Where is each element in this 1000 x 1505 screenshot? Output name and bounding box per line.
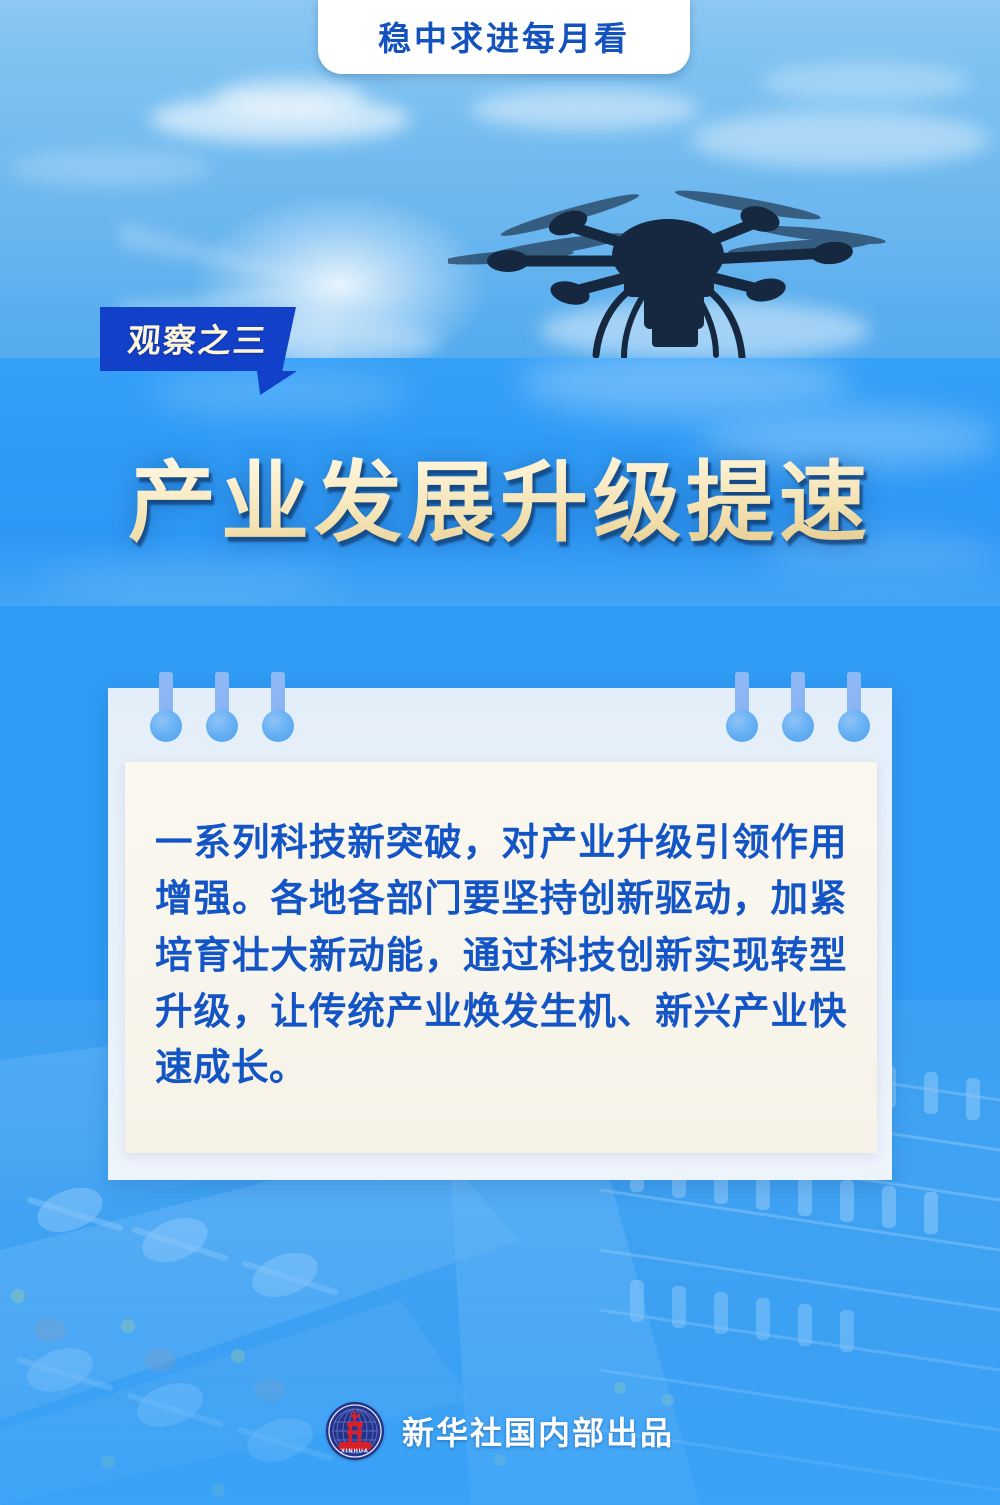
cloud-shape <box>10 150 210 186</box>
note-inner-panel: 一系列科技新突破，对产业升级引领作用增强。各地各部门要坚持创新驱动，加紧培育壮大… <box>125 762 877 1153</box>
pin-head-icon <box>262 710 294 742</box>
pin-head-icon <box>206 710 238 742</box>
observation-badge: 观察之三 <box>100 307 296 371</box>
cloud-shape <box>470 88 700 130</box>
pin-head-icon <box>782 710 814 742</box>
cloud-shape <box>690 110 990 168</box>
series-tab[interactable]: 稳中求进每月看 <box>318 0 690 74</box>
note-body-text: 一系列科技新突破，对产业升级引领作用增强。各地各部门要坚持创新驱动，加紧培育壮大… <box>155 814 847 1095</box>
pin-head-icon <box>838 710 870 742</box>
cloud-shape <box>760 62 970 102</box>
xinhua-logo-icon: XINHUA <box>326 1402 384 1460</box>
cloud-shape <box>215 78 365 118</box>
footer: XINHUA 新华社国内部出品 <box>0 1400 1000 1462</box>
page-title: 产业发展升级提速 <box>0 432 1000 559</box>
pin-head-icon <box>150 710 182 742</box>
drone-icon <box>448 175 888 360</box>
pin-head-icon <box>726 710 758 742</box>
observation-badge-label: 观察之三 <box>126 314 270 362</box>
series-tab-label: 稳中求进每月看 <box>378 10 630 60</box>
footer-label: 新华社国内部出品 <box>402 1408 674 1454</box>
xinhua-logo-caption: XINHUA <box>341 1449 369 1455</box>
poster-root: 观察之三 产业发展升级提速 <box>0 0 1000 1505</box>
